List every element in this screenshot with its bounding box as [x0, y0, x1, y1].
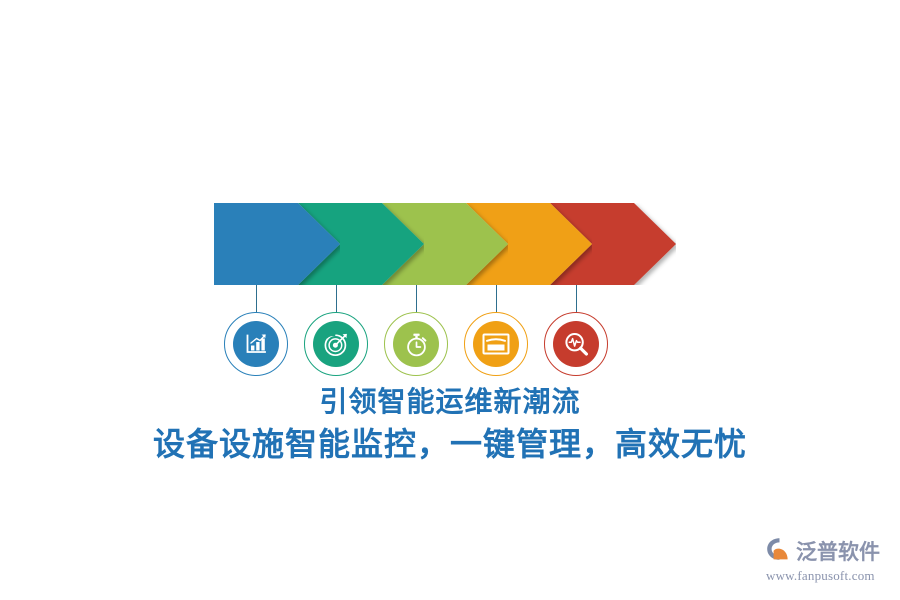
step-icon-disc-3: [393, 321, 439, 367]
connector-line-4: [496, 285, 497, 313]
headline-secondary: 设备设施智能监控，一键管理，高效无忧: [0, 424, 900, 464]
watermark: 泛普软件 www.fanpusoft.com: [765, 536, 890, 588]
step-icon-disc-1: [233, 321, 279, 367]
step-icon-node-2[interactable]: [304, 312, 368, 376]
step-icon-node-1[interactable]: [224, 312, 288, 376]
headline-primary: 引领智能运维新潮流: [0, 385, 900, 419]
connector-line-1: [256, 285, 257, 313]
watermark-url: www.fanpusoft.com: [766, 568, 875, 584]
step-icon-node-5[interactable]: [544, 312, 608, 376]
watermark-brand-name: 泛普软件: [796, 540, 880, 564]
step-icon-disc-2: [313, 321, 359, 367]
step-icon-node-4[interactable]: [464, 312, 528, 376]
step-icon-disc-5: [553, 321, 599, 367]
watermark-brand-row: 泛普软件: [765, 536, 880, 567]
fanpu-logo-icon: [765, 536, 793, 567]
presentation-board-icon: [482, 332, 510, 356]
stopwatch-icon: [403, 331, 430, 358]
magnifier-pulse-icon: [563, 331, 590, 358]
promo-banner: 引领智能运维新潮流 设备设施智能监控，一键管理，高效无忧 泛普软件 www.fa…: [0, 0, 900, 600]
chevron-step-1: [214, 203, 340, 285]
target-icon: [323, 331, 350, 358]
connector-line-3: [416, 285, 417, 313]
connector-line-2: [336, 285, 337, 313]
step-icon-disc-4: [473, 321, 519, 367]
connector-line-5: [576, 285, 577, 313]
step-icon-node-3[interactable]: [384, 312, 448, 376]
process-chevron-ribbon: [214, 203, 664, 285]
bar-chart-icon: [243, 331, 269, 357]
